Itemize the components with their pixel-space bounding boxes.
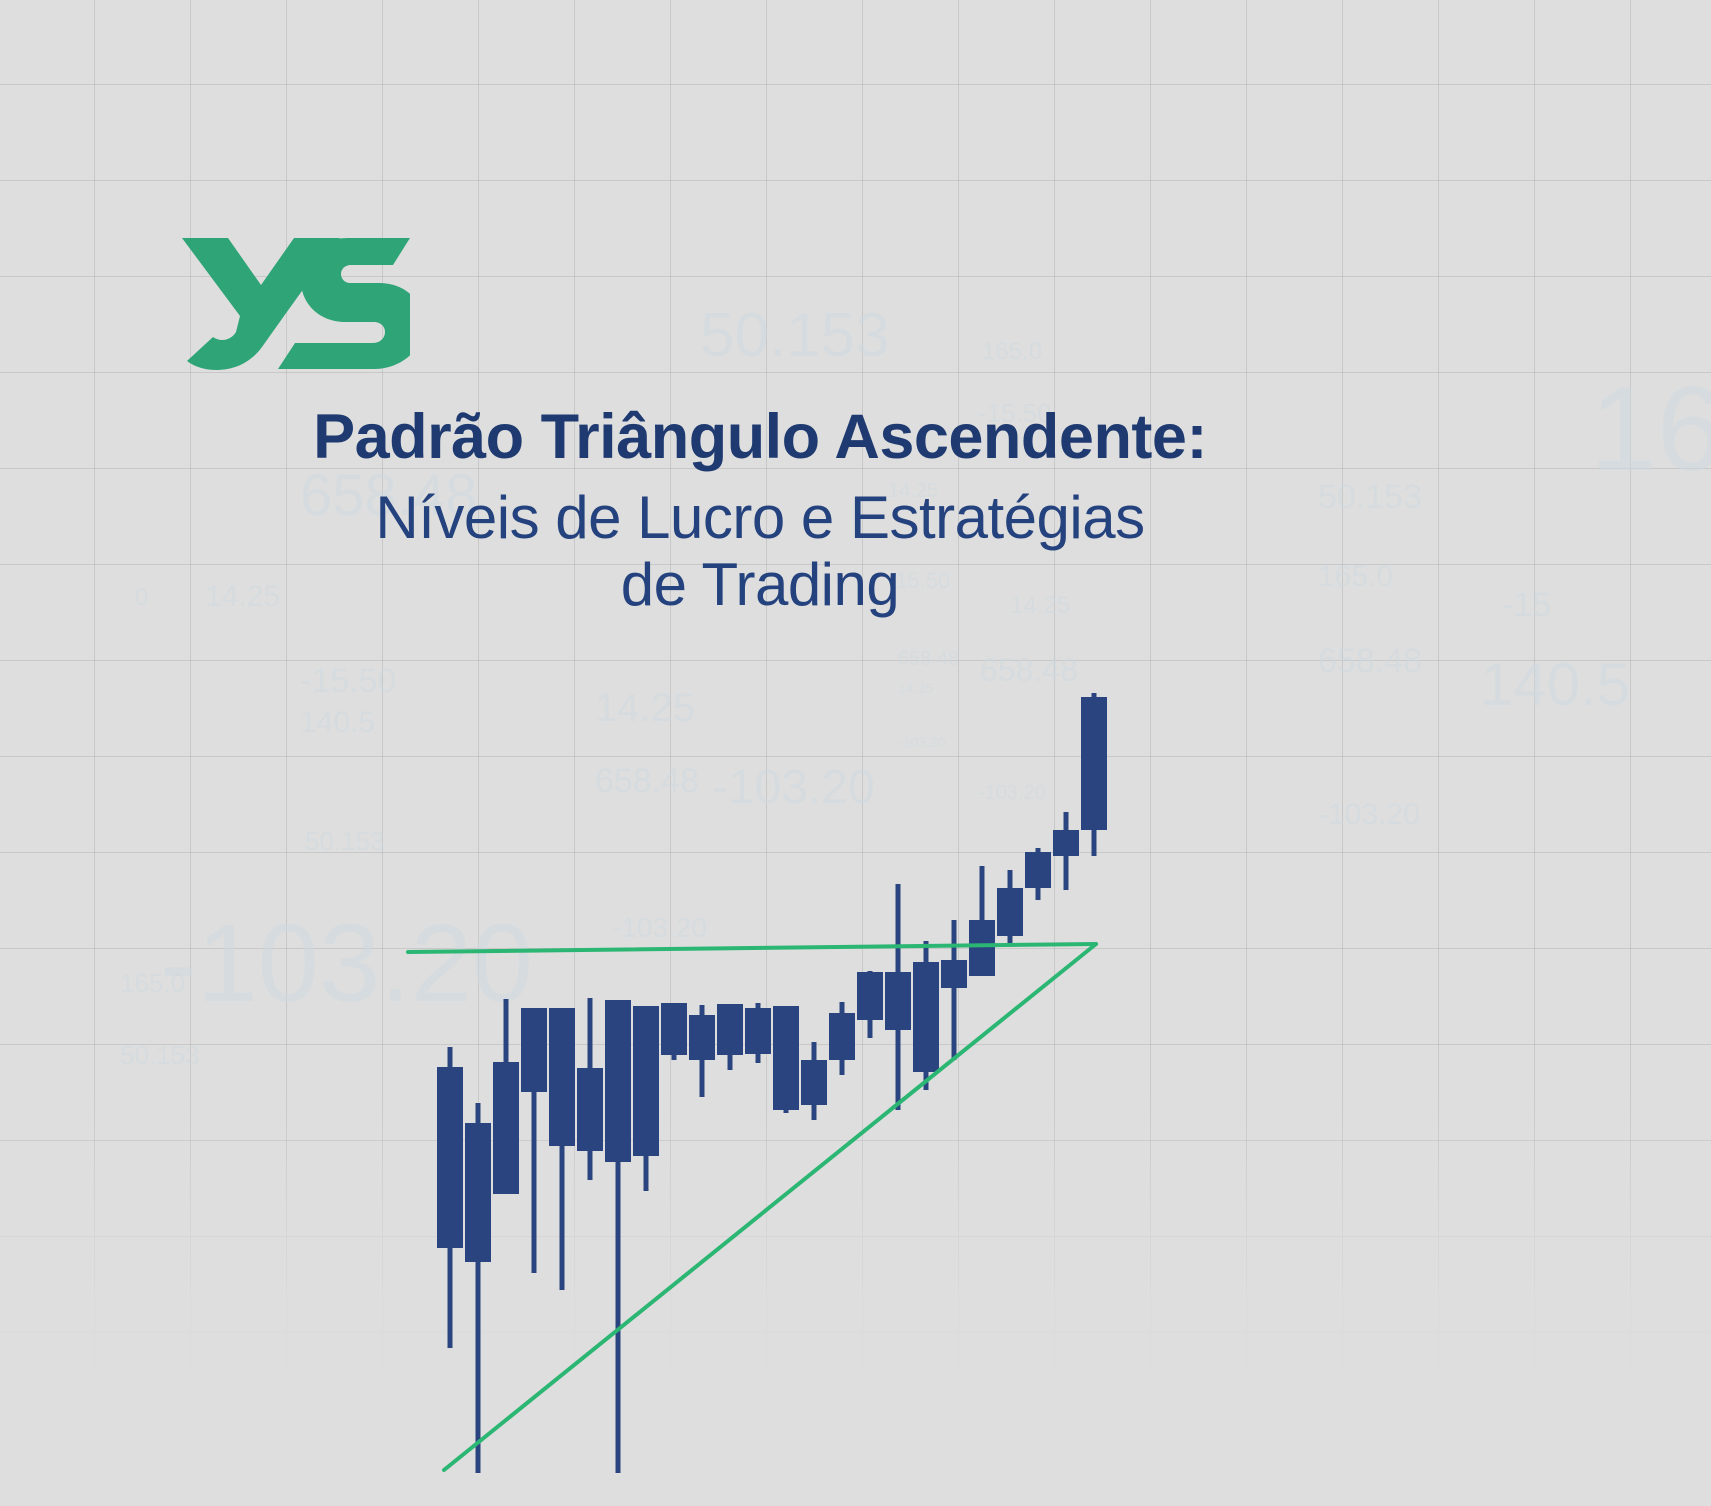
candle-body xyxy=(577,1068,603,1151)
candle-body xyxy=(885,972,911,1030)
candle-body xyxy=(969,920,995,976)
candle-body xyxy=(549,1008,575,1146)
candle-body xyxy=(521,1008,547,1092)
candle-body xyxy=(1025,852,1051,888)
candle-body xyxy=(717,1004,743,1055)
candle-body xyxy=(1053,830,1079,856)
candle-wick xyxy=(952,920,957,1060)
candle-body xyxy=(913,962,939,1072)
candle-body xyxy=(773,1006,799,1110)
candle-body xyxy=(801,1060,827,1105)
candle-body xyxy=(857,972,883,1020)
candle-body xyxy=(829,1013,855,1060)
candle-body xyxy=(997,888,1023,936)
candlestick-chart xyxy=(0,0,1711,1506)
candle-body xyxy=(437,1067,463,1248)
poster-canvas: 50.153165.0165-15.50658.4850.15314.25014… xyxy=(0,0,1711,1506)
candles-group xyxy=(437,693,1107,1473)
candle-body xyxy=(633,1006,659,1156)
candle-body xyxy=(1081,697,1107,830)
candle-body xyxy=(689,1015,715,1060)
candle-body xyxy=(605,1000,631,1162)
candle-body xyxy=(493,1062,519,1194)
candle-body xyxy=(661,1003,687,1055)
candle-body xyxy=(465,1123,491,1262)
candle-body xyxy=(941,960,967,988)
candle-body xyxy=(745,1008,771,1054)
